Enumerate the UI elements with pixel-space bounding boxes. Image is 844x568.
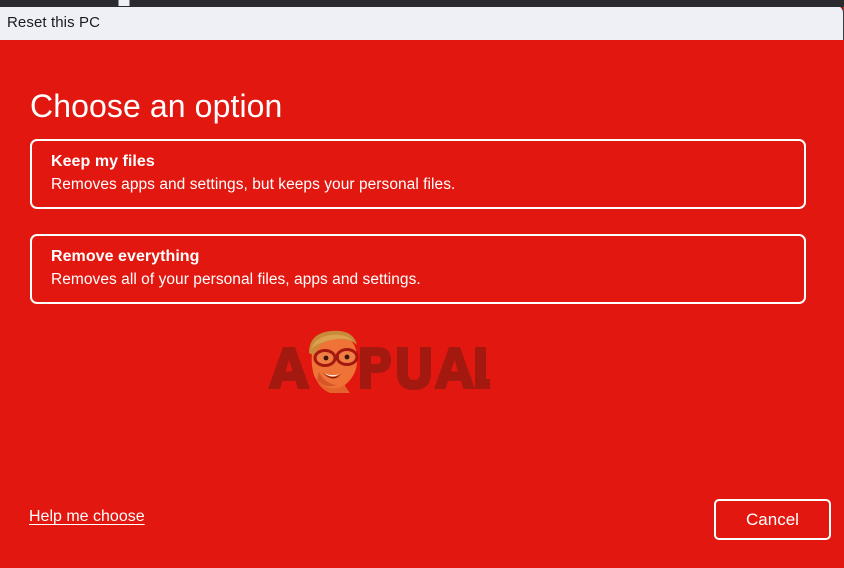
cancel-button[interactable]: Cancel [714, 499, 831, 540]
option-title: Remove everything [51, 247, 804, 267]
option-remove-everything[interactable]: Remove everything Removes all of your pe… [30, 234, 806, 304]
page-title: Choose an option [30, 89, 282, 124]
option-title: Keep my files [51, 152, 804, 172]
window-chrome-notch [118, 0, 130, 6]
option-keep-my-files[interactable]: Keep my files Removes apps and settings,… [30, 139, 806, 209]
title-bar[interactable]: Reset this PC [0, 4, 844, 40]
appuals-watermark-logo [264, 327, 490, 397]
reset-this-pc-window: Reset this PC Choose an option Keep my f… [0, 0, 844, 568]
reset-content-area: Choose an option Keep my files Removes a… [0, 40, 844, 568]
window-title: Reset this PC [7, 15, 100, 30]
option-list: Keep my files Removes apps and settings,… [30, 139, 806, 329]
appuals-logo-icon [264, 327, 490, 397]
option-description: Removes apps and settings, but keeps you… [51, 175, 804, 195]
option-description: Removes all of your personal files, apps… [51, 270, 804, 290]
help-me-choose-link[interactable]: Help me choose [29, 509, 145, 525]
